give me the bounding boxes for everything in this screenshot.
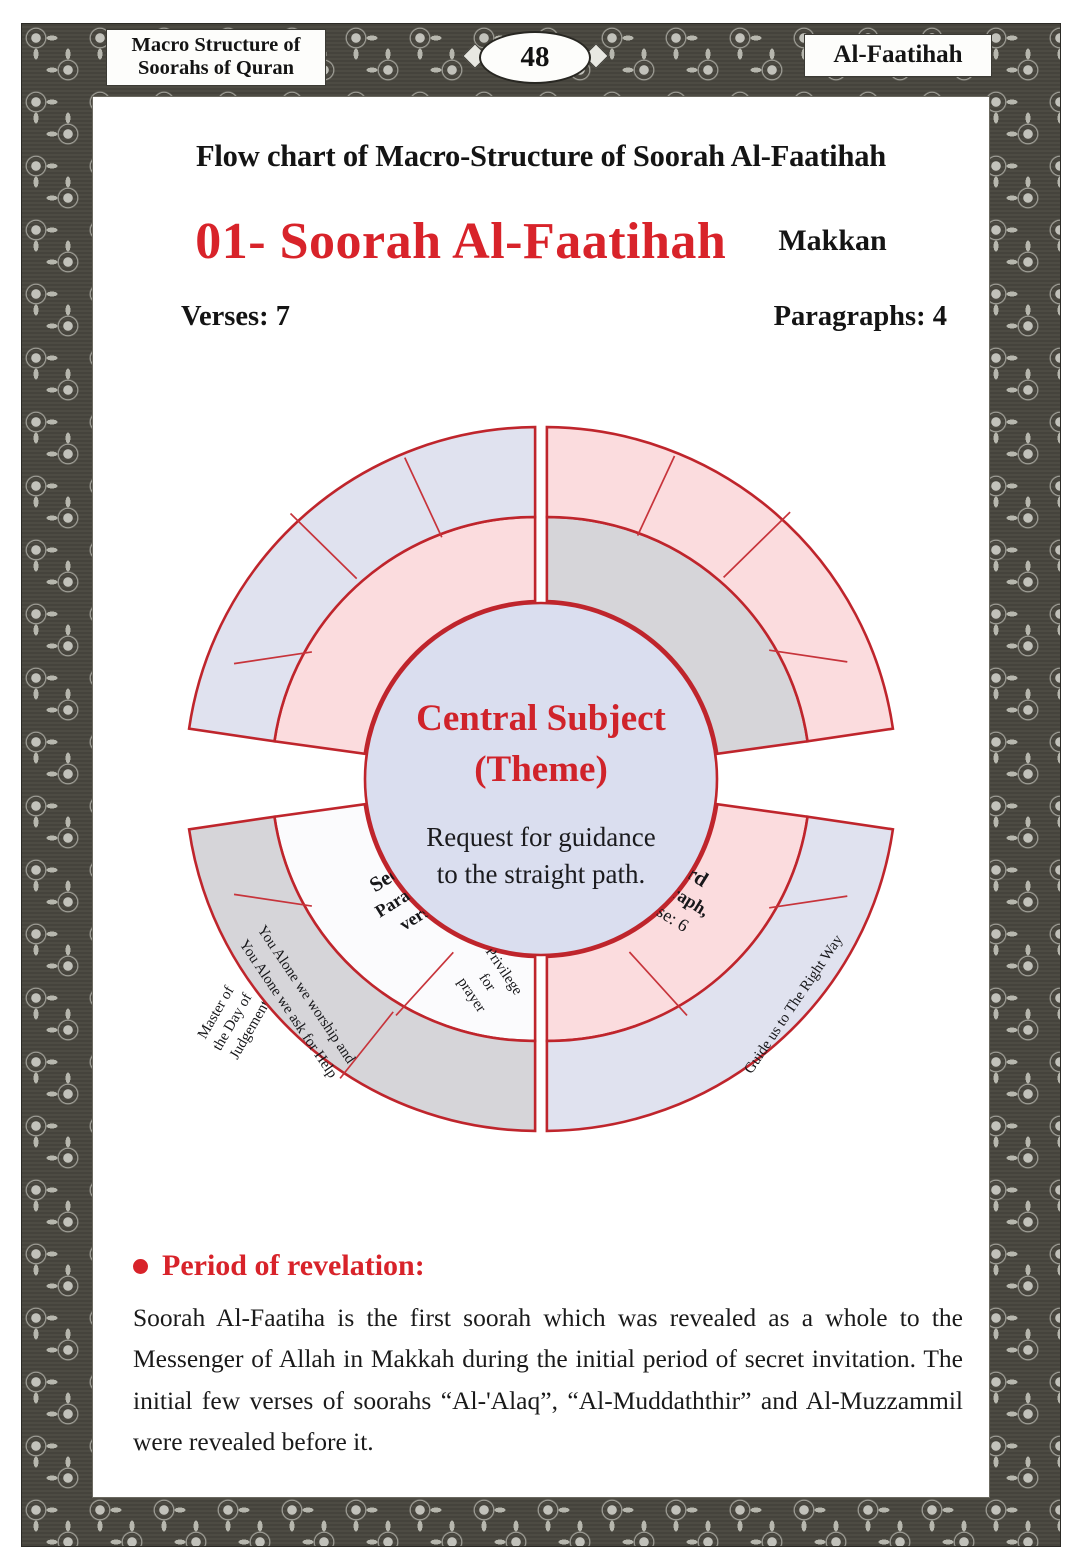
- center-title-line2: (Theme): [474, 749, 608, 790]
- header-left-line2: Soorahs of Quran: [113, 57, 319, 80]
- center-title-line1: Central Subject: [416, 698, 666, 739]
- paragraphs-count: Paragraphs: 4: [774, 301, 947, 333]
- bullet-icon: [133, 1259, 148, 1274]
- header-left-line1: Macro Structure of: [113, 34, 319, 57]
- content-panel: Flow chart of Macro-Structure of Soorah …: [92, 96, 990, 1498]
- macro-structure-flower-diagram: Master of the Day of Judgement The Compa…: [93, 359, 989, 1229]
- center-body-line2: to the straight path.: [437, 859, 645, 889]
- period-of-revelation-section: Period of revelation: Soorah Al-Faatiha …: [133, 1249, 963, 1462]
- page-root: Macro Structure of Soorahs of Quran 48 A…: [0, 0, 1080, 1568]
- page-number-badge: 48: [479, 31, 591, 84]
- revelation-place: Makkan: [778, 224, 886, 257]
- period-of-revelation-label: Period of revelation:: [162, 1249, 425, 1283]
- soorah-heading: 01- Soorah Al-FaatihahMakkan: [93, 212, 989, 271]
- header-right-plaque: Al-Faatihah: [804, 34, 992, 77]
- center-body-line1: Request for guidance: [426, 822, 655, 852]
- soorah-name: 01- Soorah Al-Faatihah: [195, 213, 726, 270]
- period-of-revelation-body: Soorah Al-Faatiha is the first soorah wh…: [133, 1297, 963, 1462]
- verses-count: Verses: 7: [181, 301, 290, 333]
- period-of-revelation-heading: Period of revelation:: [133, 1249, 963, 1283]
- header-left-plaque: Macro Structure of Soorahs of Quran: [106, 29, 326, 86]
- flow-chart-title: Flow chart of Macro-Structure of Soorah …: [93, 139, 989, 174]
